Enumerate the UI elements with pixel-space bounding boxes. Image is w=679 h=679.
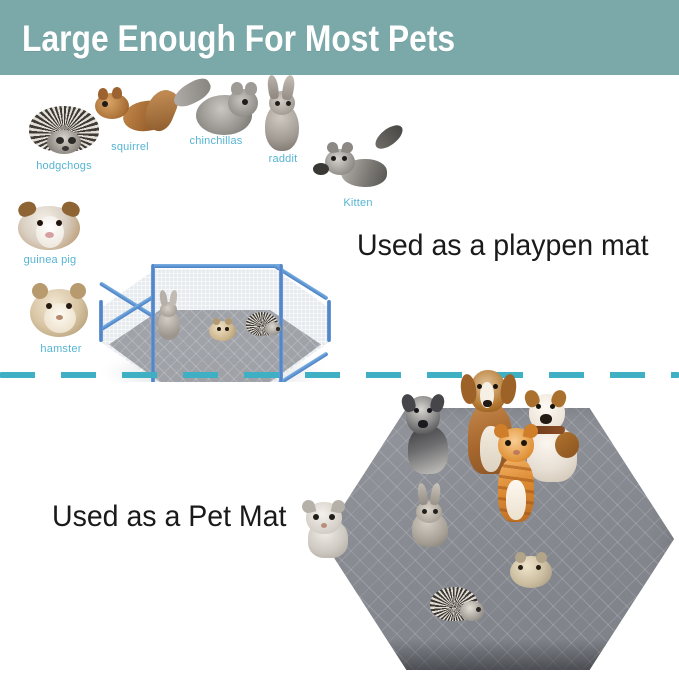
petmat-hamster bbox=[510, 552, 554, 592]
playpen-rabbit bbox=[150, 290, 184, 342]
playpen-section: hodgchogs squirrel c bbox=[0, 75, 679, 375]
petmat-schnauzer-dog bbox=[398, 392, 454, 480]
animal-kitten: Kitten bbox=[311, 123, 405, 209]
product-infographic: Large Enough For Most Pets hodgchogs bbox=[0, 0, 679, 679]
callout-pet-mat: Used as a Pet Mat bbox=[52, 500, 286, 534]
dashed-divider bbox=[0, 372, 679, 378]
petmat-orange-cat bbox=[490, 424, 542, 528]
petmat-gray-kitten bbox=[298, 500, 354, 560]
playpen-hamster bbox=[209, 318, 236, 342]
squirrel-icon bbox=[87, 83, 173, 145]
animal-label-hedgehog: hodgchogs bbox=[36, 160, 92, 172]
animal-chinchilla: chinchillas bbox=[170, 79, 262, 145]
page-title: Large Enough For Most Pets bbox=[22, 19, 455, 59]
hamster-icon bbox=[22, 273, 100, 353]
header-banner: Large Enough For Most Pets bbox=[0, 0, 679, 75]
animal-label-kitten: Kitten bbox=[343, 197, 372, 209]
animal-label-guineapig: guinea pig bbox=[24, 254, 77, 266]
playpen-hedgehog bbox=[246, 310, 282, 340]
guineapig-icon bbox=[10, 190, 90, 262]
petmat-rabbit bbox=[404, 483, 454, 551]
playpen-product bbox=[99, 254, 331, 402]
animal-hamster: hamster bbox=[22, 273, 100, 353]
animal-label-squirrel: squirrel bbox=[111, 141, 149, 153]
animal-squirrel: squirrel bbox=[87, 83, 173, 145]
animal-rabbit: raddit bbox=[253, 75, 313, 165]
petmat-hedgehog bbox=[430, 585, 490, 627]
rabbit-icon bbox=[253, 75, 313, 165]
animal-label-rabbit: raddit bbox=[269, 153, 298, 165]
animal-label-chinchilla: chinchillas bbox=[190, 135, 243, 147]
animal-guineapig: guinea pig bbox=[10, 190, 90, 262]
animal-label-hamster: hamster bbox=[40, 343, 81, 355]
callout-playpen-mat: Used as a playpen mat bbox=[357, 229, 649, 263]
